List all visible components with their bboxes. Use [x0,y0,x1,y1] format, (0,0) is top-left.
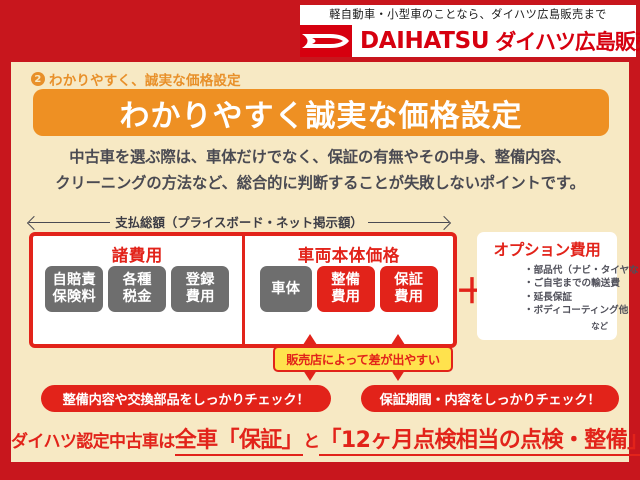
content-card: 2 わかりやすく、誠実な価格設定 わかりやすく誠実な価格設定 中古車を選ぶ際は、… [11,62,629,462]
page-header: 軽自動車・小型車のことなら、ダイハツ広島販売まで DAIHATSU ダイハツ広島… [0,0,640,62]
chip-line-2: 費用 [394,289,423,306]
chip-line-2: 保険料 [53,289,96,306]
chip-line-2: 税金 [123,289,152,306]
daihatsu-d-mark-icon [300,25,352,57]
brand-tagline: 軽自動車・小型車のことなら、ダイハツ広島販売まで [300,5,636,25]
brand-name-en: DAIHATSU [352,25,495,57]
chip-line-1: 車体 [271,281,300,298]
chip-jibaiseki: 自賠責 保険料 [45,266,103,312]
list-item: ・ご自宅までの輸送費 [524,277,617,290]
step-number-badge: 2 [31,72,45,86]
list-item: ・ボディコーティング他 [524,304,617,317]
check-pill-warranty[interactable]: 保証期間・内容をしっかりチェック！ [361,385,619,412]
step-label-row: 2 わかりやすく、誠実な価格設定 [31,69,241,89]
chip-maintenance-fee: 整備 費用 [317,266,375,312]
brand-lockup: DAIHATSU ダイハツ広島販売 [300,25,636,57]
panel-vehicle-price-heading: 車両本体価格 [245,242,454,266]
brand-logo-block: 軽自動車・小型車のことなら、ダイハツ広島販売まで DAIHATSU ダイハツ広島… [300,5,636,57]
check-pill-warranty-label: 保証期間・内容をしっかりチェック！ [380,389,601,408]
chip-warranty-fee: 保証 費用 [380,266,438,312]
option-fees-list: ・部品代（ナビ・タイヤなど） ・ご自宅までの輸送費 ・延長保証 ・ボディコーティ… [484,264,617,318]
chip-line-1: 整備 [331,272,360,289]
panel-vehicle-price: 車両本体価格 車体 整備 費用 保証 費用 [245,236,454,344]
step-label-text: わかりやすく、誠実な価格設定 [49,69,241,89]
arrow-right-icon [368,222,449,223]
lead-line-2: クリーニングの方法など、総合的に判断することが失敗しないポイントです。 [11,170,629,196]
statement-conjunction: と [303,432,319,452]
chip-line-2: 費用 [331,289,360,306]
dealer-variance-callout-text: 販売店によって差が出やすい [286,350,440,368]
chip-line-1: 各種 [123,272,152,289]
list-item: ・延長保証 [524,291,617,304]
panel-misc-fees-heading: 諸費用 [33,242,242,266]
total-payment-caption-text: 支払総額（プライスボード・ネット掲示額） [115,213,362,231]
chip-line-1: 自賠責 [53,272,96,289]
panel-misc-fees-chips: 自賠責 保険料 各種 税金 登録 費用 [33,266,242,312]
check-pill-maintenance-label: 整備内容や交換部品をしっかりチェック！ [63,389,310,408]
statement-emph-inspection: 「12ヶ月点検相当の点検・整備」 [319,428,640,456]
price-structure-box: 諸費用 自賠責 保険料 各種 税金 登録 費用 [29,232,457,348]
chip-taxes: 各種 税金 [108,266,166,312]
brand-name-jp: ダイハツ広島販売 [495,25,640,57]
certified-used-car-statement: ダイハツ認定中古車は全車「保証」と「12ヶ月点検相当の点検・整備」付き [11,422,629,454]
chip-registration: 登録 費用 [171,266,229,312]
statement-prefix: ダイハツ認定中古車は [11,432,175,452]
total-payment-caption: 支払総額（プライスボード・ネット掲示額） [29,212,449,232]
statement-emph-warranty: 全車「保証」 [175,428,303,456]
chip-line-1: 登録 [186,272,215,289]
section-title: わかりやすく誠実な価格設定 [120,91,523,135]
arrow-left-icon [29,222,110,223]
option-fees-heading: オプション費用 [477,238,617,260]
lead-line-1: 中古車を選ぶ際は、車体だけでなく、保証の有無やその中身、整備内容、 [11,144,629,170]
panel-vehicle-price-chips: 車体 整備 費用 保証 費用 [245,266,454,312]
chip-line-1: 保証 [394,272,423,289]
option-fees-footnote: など [477,320,608,332]
lead-paragraph: 中古車を選ぶ際は、車体だけでなく、保証の有無やその中身、整備内容、 クリーニング… [11,144,629,196]
section-title-banner: わかりやすく誠実な価格設定 [33,89,609,136]
poster-root: 軽自動車・小型車のことなら、ダイハツ広島販売まで DAIHATSU ダイハツ広島… [0,0,640,480]
chip-body: 車体 [260,266,312,312]
panel-misc-fees: 諸費用 自賠責 保険料 各種 税金 登録 費用 [33,236,245,344]
footer-bar [0,462,640,480]
list-item: ・部品代（ナビ・タイヤなど） [524,264,617,277]
check-pill-maintenance[interactable]: 整備内容や交換部品をしっかりチェック！ [41,385,331,412]
option-fees-box: オプション費用 ・部品代（ナビ・タイヤなど） ・ご自宅までの輸送費 ・延長保証 … [477,232,617,340]
dealer-variance-callout: 販売店によって差が出やすい [273,346,453,372]
chip-line-2: 費用 [186,289,215,306]
